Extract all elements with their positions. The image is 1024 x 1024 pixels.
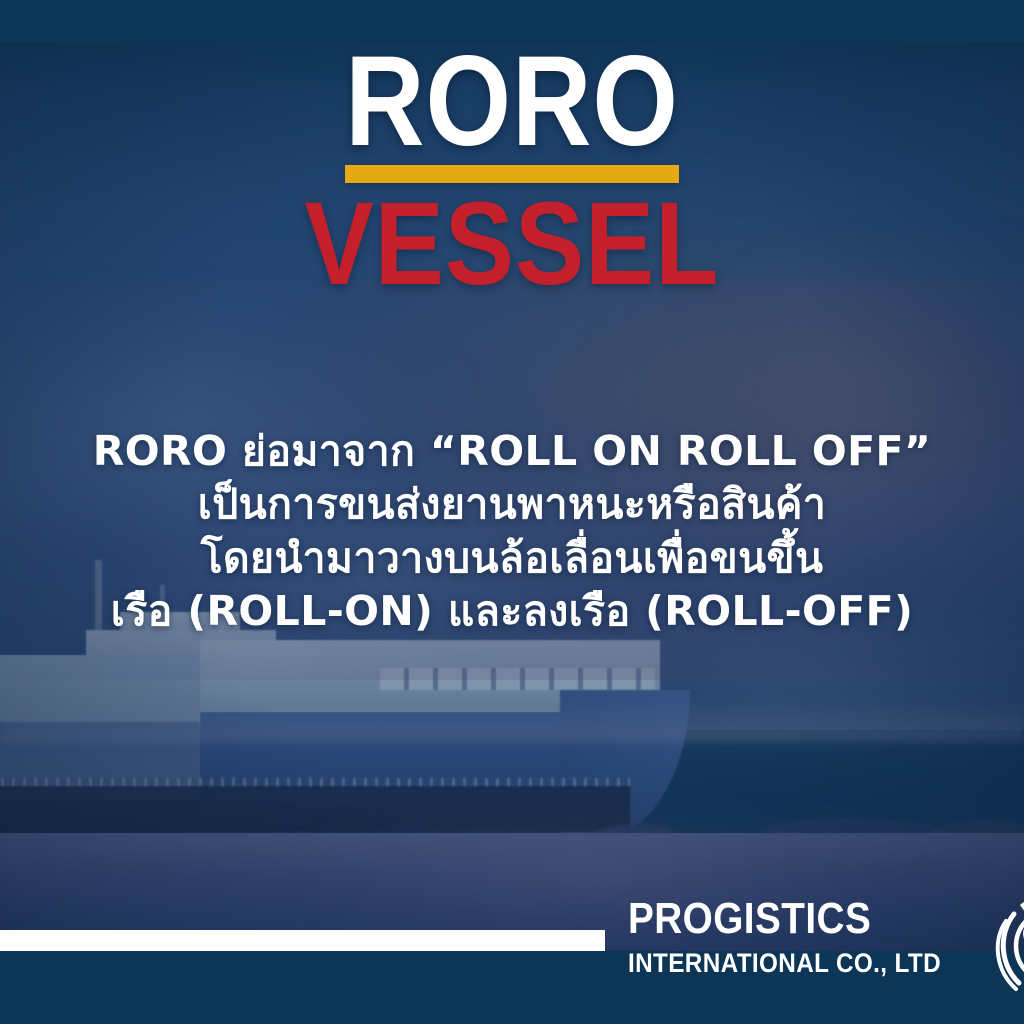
company-logo: PROGISTICS INTERNATIONAL CO., LTD <box>628 893 1012 1015</box>
poster-content: RORO VESSEL RORO ย่อมาจาก “ROLL ON ROLL … <box>0 0 1024 1024</box>
title-vessel: VESSEL <box>61 197 962 291</box>
body-line-4: เรือ (ROLL-ON) และลงเรือ (ROLL-OFF) <box>70 585 954 638</box>
globe-with-arrows-icon <box>990 889 1024 1007</box>
logo-company-subtitle: INTERNATIONAL CO., LTD <box>628 950 941 977</box>
bottom-left-white-bar <box>0 930 605 951</box>
body-line-1: RORO ย่อมาจาก “ROLL ON ROLL OFF” <box>70 425 954 478</box>
title-block: RORO VESSEL <box>0 52 1024 291</box>
body-copy: RORO ย่อมาจาก “ROLL ON ROLL OFF” เป็นการ… <box>70 425 954 638</box>
poster-canvas: RORO VESSEL RORO ย่อมาจาก “ROLL ON ROLL … <box>0 0 1024 1024</box>
title-roro: RORO <box>72 52 953 152</box>
logo-text-block: PROGISTICS INTERNATIONAL CO., LTD <box>628 893 976 977</box>
body-line-3: โดยนำมาวางบนล้อเลื่อนเพื่อขนขึ้น <box>70 532 954 585</box>
logo-company-name: PROGISTICS <box>628 897 934 941</box>
body-line-2: เป็นการขนส่งยานพาหนะหรือสินค้า <box>70 478 954 531</box>
